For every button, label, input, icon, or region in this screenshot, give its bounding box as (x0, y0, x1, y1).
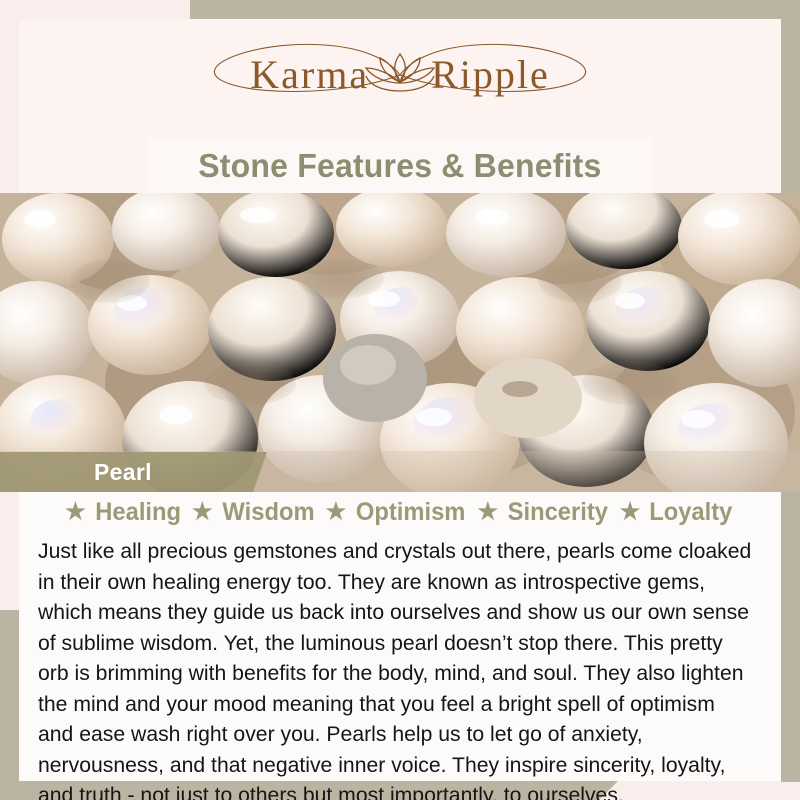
brand-logo: Karma Ripple (19, 19, 781, 130)
stone-photo: Pearl (0, 193, 800, 492)
keyword-label: Sincerity (508, 498, 608, 527)
content-panel: ★ Healing ★ Wisdom ★ Optimism ★ Sincerit… (19, 492, 781, 781)
star-icon: ★ (192, 500, 213, 523)
brand-name-left: Karma (250, 51, 369, 98)
poster-card: Karma Ripple Stone Features & Benefits (19, 19, 781, 781)
star-icon: ★ (478, 500, 499, 523)
keyword-label: Wisdom (222, 498, 314, 527)
keyword-optimism: ★ Optimism (326, 498, 469, 527)
stone-description: Just like all precious gemstones and cry… (38, 536, 752, 800)
keyword-wisdom: ★ Wisdom (192, 498, 317, 527)
keyword-loyalty: ★ Loyalty (620, 498, 735, 527)
stone-name-label: Pearl (94, 459, 152, 486)
star-icon: ★ (326, 500, 347, 523)
star-icon: ★ (65, 500, 86, 523)
brand-name-right: Ripple (431, 51, 550, 98)
keyword-sincerity: ★ Sincerity (478, 498, 611, 527)
keyword-label: Optimism (356, 498, 466, 527)
poster: Karma Ripple Stone Features & Benefits (0, 0, 800, 800)
pearl-photo-image (0, 193, 800, 492)
keyword-healing: ★ Healing (65, 498, 183, 527)
keyword-list: ★ Healing ★ Wisdom ★ Optimism ★ Sincerit… (19, 498, 781, 527)
frame-left-bar (0, 610, 19, 800)
stone-name-banner: Pearl (0, 452, 267, 492)
keyword-label: Healing (95, 498, 181, 527)
title-bar: Stone Features & Benefits (147, 138, 653, 193)
keyword-label: Loyalty (650, 498, 733, 527)
frame-top-bar (190, 0, 800, 19)
star-icon: ★ (620, 500, 641, 523)
page-title: Stone Features & Benefits (198, 147, 601, 185)
